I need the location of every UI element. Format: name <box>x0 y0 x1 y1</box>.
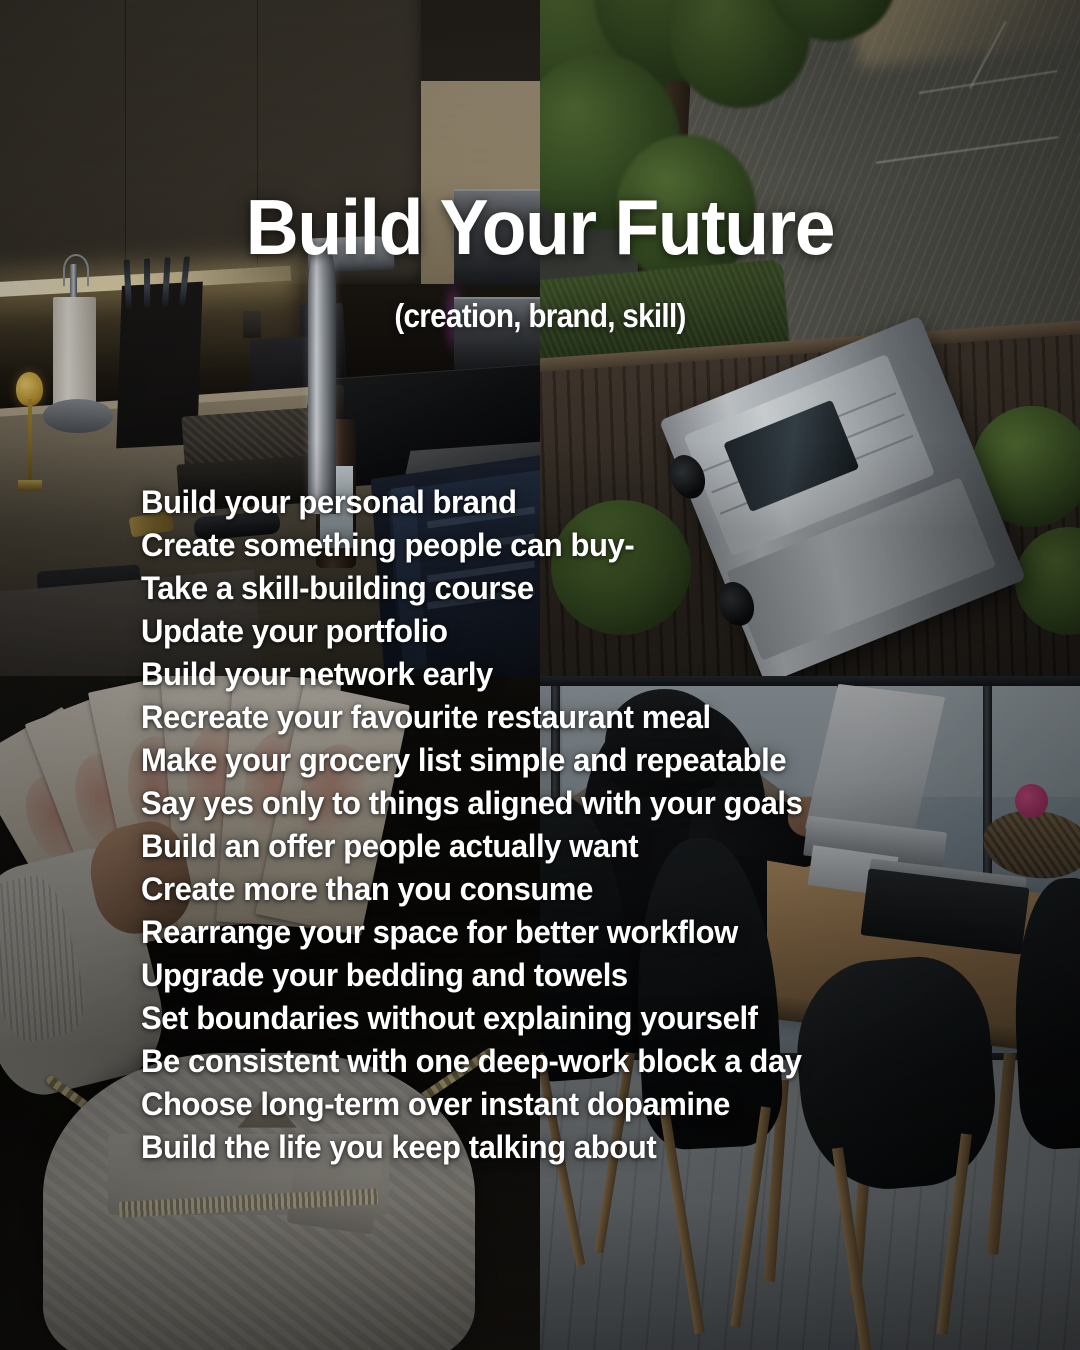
page-subtitle: (creation, brand, skill) <box>54 299 1026 332</box>
list-item: Recreate your favourite restaurant meal <box>141 696 981 739</box>
list-item: Set boundaries without explaining yourse… <box>141 997 981 1040</box>
list-item: Update your portfolio <box>141 610 981 653</box>
list-item: Create more than you consume <box>141 868 981 911</box>
list-item: Make your grocery list simple and repeat… <box>141 739 981 782</box>
list-item: Choose long-term over instant dopamine <box>141 1083 981 1126</box>
list-item: Be consistent with one deep-work block a… <box>141 1040 981 1083</box>
list-item: Upgrade your bedding and towels <box>141 954 981 997</box>
list-item: Build the life you keep talking about <box>141 1126 981 1169</box>
list-item: Create something people can buy- <box>141 524 981 567</box>
checklist: Build your personal brand Create somethi… <box>141 481 1021 1169</box>
text-content-layer: Build Your Future (creation, brand, skil… <box>0 0 1080 1350</box>
list-item: Build an offer people actually want <box>141 825 981 868</box>
poster-canvas: Build Your Future (creation, brand, skil… <box>0 0 1080 1350</box>
list-item: Say yes only to things aligned with your… <box>141 782 981 825</box>
list-item: Build your personal brand <box>141 481 981 524</box>
page-title: Build Your Future <box>32 188 1047 266</box>
list-item: Rearrange your space for better workflow <box>141 911 981 954</box>
list-item: Take a skill-building course <box>141 567 981 610</box>
list-item: Build your network early <box>141 653 981 696</box>
